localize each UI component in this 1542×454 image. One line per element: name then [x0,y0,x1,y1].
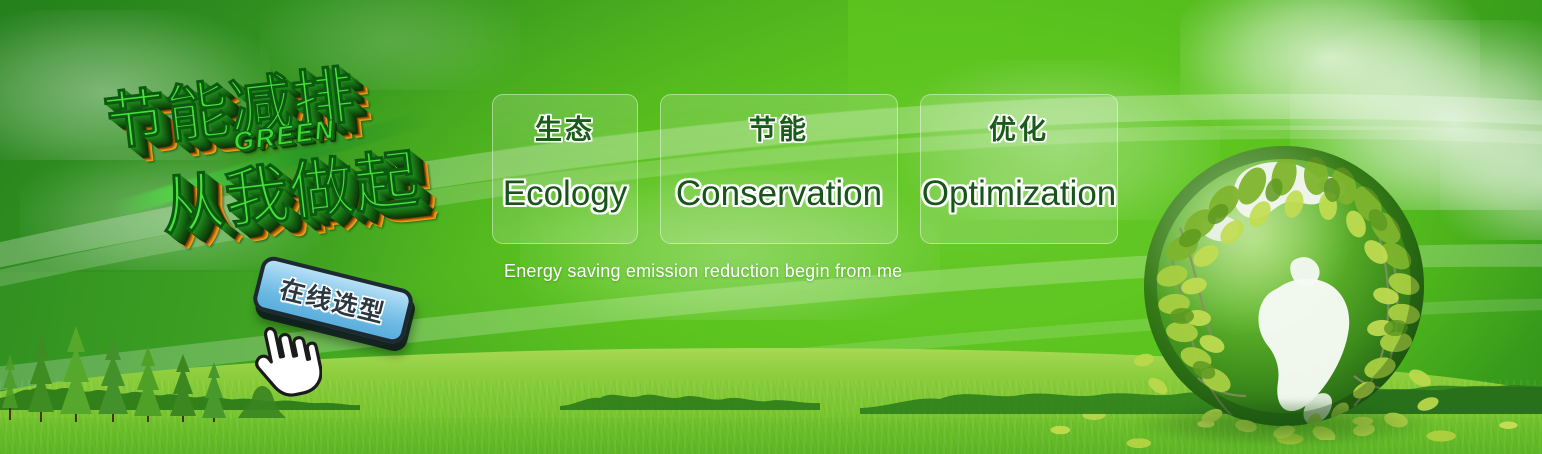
eco-promo-banner: 节能减排 GREEN 从我做起 在线选型 生态 Ecology 节能 Conse… [0,0,1542,454]
feature-card-ecology-zh: 生态 [535,117,595,144]
feature-card-optimization-en: Optimization [922,176,1117,211]
feature-card-optimization[interactable]: 优化 Optimization [920,94,1118,244]
feature-card-ecology[interactable]: 生态 Ecology [492,94,638,244]
feature-card-conservation[interactable]: 节能 Conservation [660,94,898,244]
tagline: Energy saving emission reduction begin f… [504,261,902,282]
feature-card-conservation-zh: 节能 [749,117,809,144]
feature-card-group: 生态 Ecology 节能 Conservation 优化 Optimizati… [492,94,1118,244]
headline-3d: 节能减排 GREEN 从我做起 [92,22,515,296]
conifer-tree-icon [0,312,340,422]
feature-card-conservation-en: Conservation [676,176,882,211]
feature-card-optimization-zh: 优化 [989,117,1049,144]
leafy-earth-globe-icon [1128,128,1440,440]
feature-card-ecology-en: Ecology [503,176,628,211]
globe-shadow [1138,400,1430,446]
